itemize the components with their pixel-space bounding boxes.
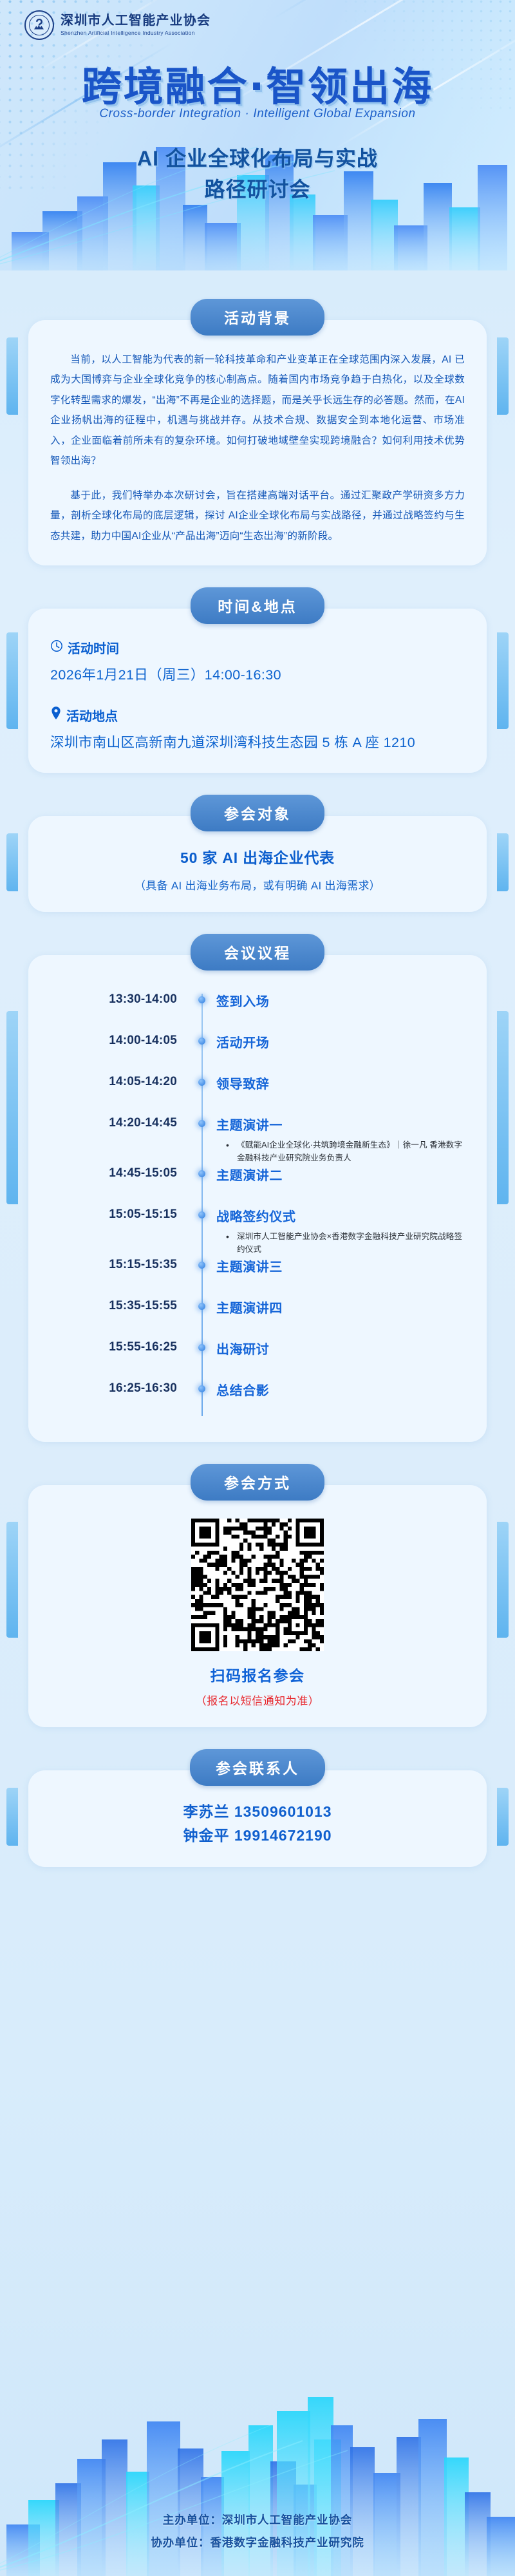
hero-headline: AI 企业全球化布局与实战 路径研讨会 bbox=[0, 143, 515, 205]
agenda-row: 15:55-16:25出海研讨 bbox=[46, 1339, 469, 1380]
footer-organizer: 主办单位：深圳市人工智能产业协会 bbox=[0, 2509, 515, 2532]
clock-icon bbox=[50, 639, 63, 656]
agenda-dot-icon bbox=[189, 1298, 214, 1310]
poster-root: 深圳市人工智能产业协会 Shenzhen Artificial Intellig… bbox=[0, 0, 515, 2576]
agenda-row: 15:15-15:35主题演讲三 bbox=[46, 1256, 469, 1298]
qr-code[interactable] bbox=[191, 1519, 324, 1651]
agenda-title: 领导致辞 bbox=[216, 1074, 469, 1092]
section-signup: 参会方式 扫码报名参会 （报名以短信通知为准） bbox=[28, 1464, 487, 1727]
section-background-pill: 活动背景 bbox=[191, 299, 324, 336]
agenda-row: 15:05-15:15战略签约仪式深圳市人工智能产业协会×香港数字金融科技产业研… bbox=[46, 1206, 469, 1256]
agenda-time: 15:35-15:55 bbox=[46, 1298, 189, 1313]
hero-headline-line1: AI 企业全球化布局与实战 bbox=[0, 143, 515, 174]
footer-coorganizer: 协办单位：香港数字金融科技产业研究院 bbox=[0, 2532, 515, 2554]
agenda-time: 15:55-16:25 bbox=[46, 1339, 189, 1354]
agenda-title: 主题演讲一 bbox=[216, 1115, 469, 1133]
agenda-time: 14:00-14:05 bbox=[46, 1032, 189, 1048]
event-place-label: 活动地点 bbox=[66, 706, 118, 724]
agenda-body: 主题演讲四 bbox=[214, 1298, 469, 1316]
agenda-row: 14:45-15:05主题演讲二 bbox=[46, 1165, 469, 1206]
agenda-dot-icon bbox=[189, 1256, 214, 1269]
agenda-row: 13:30-14:00签到入场 bbox=[46, 991, 469, 1032]
qr-caption: 扫码报名参会 bbox=[50, 1663, 465, 1685]
section-signup-pill: 参会方式 bbox=[191, 1464, 324, 1501]
background-paragraph-1: 当前，以人工智能为代表的新一轮科技革命和产业变革正在全球范围内深入发展，AI 已… bbox=[50, 350, 465, 471]
agenda-body: 签到入场 bbox=[214, 991, 469, 1010]
background-card: 当前，以人工智能为代表的新一轮科技革命和产业变革正在全球范围内深入发展，AI 已… bbox=[28, 320, 487, 565]
contact-person: 李苏兰 13509601013 bbox=[50, 1800, 465, 1824]
signup-card: 扫码报名参会 （报名以短信通知为准） bbox=[28, 1485, 487, 1727]
footer-organizers: 主办单位：深圳市人工智能产业协会 协办单位：香港数字金融科技产业研究院 bbox=[0, 2509, 515, 2554]
agenda-body: 主题演讲三 bbox=[214, 1256, 469, 1275]
association-name-en: Shenzhen Artificial Intelligence Industr… bbox=[61, 30, 211, 36]
time-place-card: 活动时间 2026年1月21日（周三）14:00-16:30 活动地点 深圳市南… bbox=[28, 609, 487, 773]
event-time-block: 活动时间 2026年1月21日（周三）14:00-16:30 bbox=[50, 638, 465, 686]
agenda-row: 15:35-15:55主题演讲四 bbox=[46, 1298, 469, 1339]
agenda-notes: 《赋能AI企业全球化·共筑跨境金融新生态》｜徐一凡 香港数字金融科技产业研究院业… bbox=[225, 1139, 469, 1165]
event-place-block: 活动地点 深圳市南山区高新南九道深圳湾科技生态园 5 栋 A 座 1210 bbox=[50, 706, 465, 753]
agenda-dot-icon bbox=[189, 1339, 214, 1351]
agenda-title: 签到入场 bbox=[216, 991, 469, 1010]
section-contacts-pill: 参会联系人 bbox=[190, 1749, 325, 1786]
association-identity: 深圳市人工智能产业协会 Shenzhen Artificial Intellig… bbox=[24, 10, 211, 40]
agenda-dot-icon bbox=[189, 1165, 214, 1177]
agenda-title: 主题演讲二 bbox=[216, 1165, 469, 1184]
section-audience-pill: 参会对象 bbox=[191, 795, 324, 831]
agenda-body: 主题演讲二 bbox=[214, 1165, 469, 1184]
agenda-note: 《赋能AI企业全球化·共筑跨境金融新生态》｜徐一凡 香港数字金融科技产业研究院业… bbox=[225, 1139, 469, 1165]
agenda-row: 14:00-14:05活动开场 bbox=[46, 1032, 469, 1074]
agenda-dot-icon bbox=[189, 1074, 214, 1086]
hero-headline-line2: 路径研讨会 bbox=[0, 174, 515, 205]
agenda-title: 总结合影 bbox=[216, 1380, 469, 1399]
section-time-place-pill: 时间&地点 bbox=[191, 587, 324, 624]
agenda-title: 出海研讨 bbox=[216, 1339, 469, 1358]
contact-person: 钟金平 19914672190 bbox=[50, 1824, 465, 1848]
agenda-note: 深圳市人工智能产业协会×香港数字金融科技产业研究院战略签约仪式 bbox=[225, 1230, 469, 1256]
agenda-notes: 深圳市人工智能产业协会×香港数字金融科技产业研究院战略签约仪式 bbox=[225, 1230, 469, 1256]
agenda-title: 活动开场 bbox=[216, 1032, 469, 1051]
event-place-label-row: 活动地点 bbox=[50, 706, 465, 724]
aiia-circle-logo-icon bbox=[24, 10, 54, 40]
event-place-value: 深圳市南山区高新南九道深圳湾科技生态园 5 栋 A 座 1210 bbox=[50, 732, 465, 753]
agenda-dot-icon bbox=[189, 1115, 214, 1127]
agenda-row: 16:25-16:30总结合影 bbox=[46, 1380, 469, 1421]
hero-subtitle-en: Cross-border Integration · Intelligent G… bbox=[0, 107, 515, 121]
agenda-title: 主题演讲四 bbox=[216, 1298, 469, 1316]
agenda-title: 主题演讲三 bbox=[216, 1256, 469, 1275]
agenda-dot-icon bbox=[189, 1032, 214, 1045]
section-time-place: 时间&地点 活动时间 2026年1月21日（周三）14:00-16:30 bbox=[28, 587, 487, 773]
agenda-time: 15:15-15:35 bbox=[46, 1256, 189, 1272]
agenda-body: 领导致辞 bbox=[214, 1074, 469, 1092]
agenda-body: 总结合影 bbox=[214, 1380, 469, 1399]
association-name-cn: 深圳市人工智能产业协会 bbox=[61, 14, 211, 28]
agenda-row: 14:05-14:20领导致辞 bbox=[46, 1074, 469, 1115]
background-paragraph-2: 基于此，我们特举办本次研讨会，旨在搭建高端对话平台。通过汇聚政产学研资多方力量，… bbox=[50, 486, 465, 546]
hero-title: 跨境融合·智领出海 bbox=[0, 54, 515, 112]
map-pin-icon bbox=[50, 706, 62, 724]
section-agenda-pill: 会议议程 bbox=[191, 934, 324, 971]
agenda-time: 14:05-14:20 bbox=[46, 1074, 189, 1089]
agenda-timeline: 13:30-14:00签到入场14:00-14:05活动开场14:05-14:2… bbox=[46, 985, 469, 1425]
agenda-body: 战略签约仪式深圳市人工智能产业协会×香港数字金融科技产业研究院战略签约仪式 bbox=[214, 1206, 469, 1256]
agenda-time: 13:30-14:00 bbox=[46, 991, 189, 1007]
agenda-body: 主题演讲一《赋能AI企业全球化·共筑跨境金融新生态》｜徐一凡 香港数字金融科技产… bbox=[214, 1115, 469, 1165]
audience-sub-text: （具备 AI 出海业务布局，或有明确 AI 出海需求） bbox=[50, 876, 465, 893]
agenda-row: 14:20-14:45主题演讲一《赋能AI企业全球化·共筑跨境金融新生态》｜徐一… bbox=[46, 1115, 469, 1165]
event-time-value: 2026年1月21日（周三）14:00-16:30 bbox=[50, 665, 465, 686]
agenda-time: 16:25-16:30 bbox=[46, 1380, 189, 1396]
agenda-body: 活动开场 bbox=[214, 1032, 469, 1051]
section-audience: 参会对象 50 家 AI 出海企业代表 （具备 AI 出海业务布局，或有明确 A… bbox=[28, 795, 487, 912]
section-background: 活动背景 当前，以人工智能为代表的新一轮科技革命和产业变革正在全球范围内深入发展… bbox=[28, 299, 487, 565]
footer-skyline: 主办单位：深圳市人工智能产业协会 协办单位：香港数字金融科技产业研究院 bbox=[0, 2363, 515, 2576]
agenda-card: 13:30-14:00签到入场14:00-14:05活动开场14:05-14:2… bbox=[28, 955, 487, 1442]
agenda-time: 14:45-15:05 bbox=[46, 1165, 189, 1180]
agenda-dot-icon bbox=[189, 1380, 214, 1392]
agenda-title: 战略签约仪式 bbox=[216, 1206, 469, 1225]
event-time-label-row: 活动时间 bbox=[50, 638, 465, 657]
audience-main-text: 50 家 AI 出海企业代表 bbox=[50, 846, 465, 867]
agenda-dot-icon bbox=[189, 991, 214, 1003]
hero-banner: 深圳市人工智能产业协会 Shenzhen Artificial Intellig… bbox=[0, 0, 515, 270]
agenda-time: 14:20-14:45 bbox=[46, 1115, 189, 1130]
agenda-body: 出海研讨 bbox=[214, 1339, 469, 1358]
agenda-time: 15:05-15:15 bbox=[46, 1206, 189, 1222]
qr-note: （报名以短信通知为准） bbox=[50, 1692, 465, 1708]
section-contacts: 参会联系人 李苏兰 13509601013钟金平 19914672190 bbox=[28, 1749, 487, 1868]
event-time-label: 活动时间 bbox=[68, 638, 119, 657]
section-agenda: 会议议程 13:30-14:00签到入场14:00-14:05活动开场14:05… bbox=[28, 934, 487, 1442]
agenda-dot-icon bbox=[189, 1206, 214, 1218]
